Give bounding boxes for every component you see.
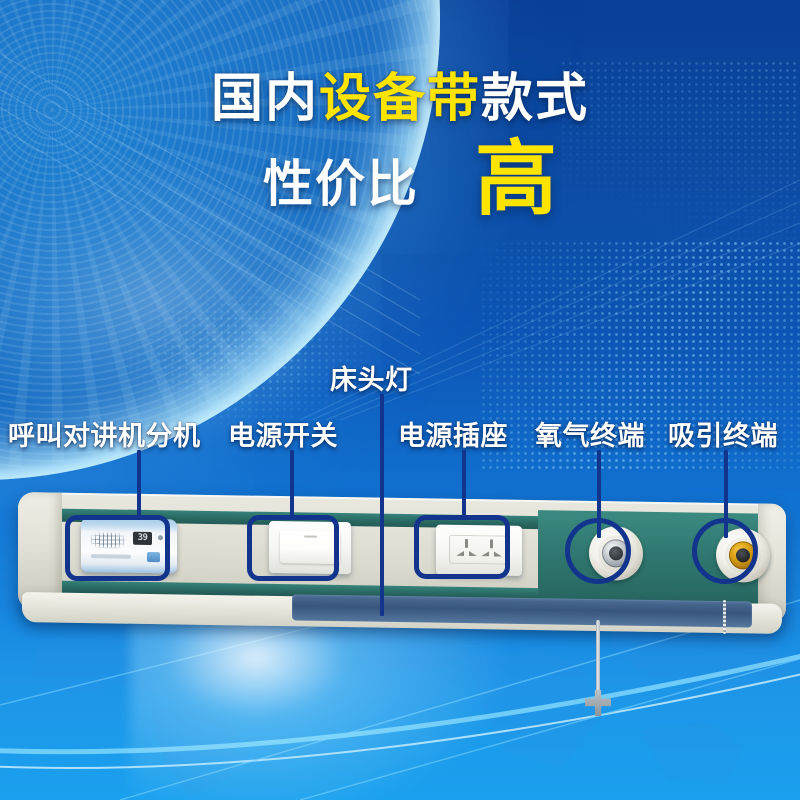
highlight-circle-oxygen (565, 518, 631, 584)
leader-line-bedside-lamp (380, 394, 384, 616)
highlight-box-power-socket (414, 515, 510, 579)
callout-label-oxygen: 氧气终端 (535, 414, 645, 453)
highlight-circle-suction (692, 518, 758, 584)
promo-banner: 国内设备带款式 性价比 高 呼叫对讲机分机 电源开关 床头灯 电源插座 氧气终端… (0, 0, 800, 800)
leader-line-intercom (137, 450, 141, 518)
callout-label-intercom: 呼叫对讲机分机 (8, 414, 201, 453)
callout-label-power-socket: 电源插座 (398, 414, 508, 453)
callout-label-power-switch: 电源开关 (228, 414, 338, 453)
highlight-box-power-switch (247, 515, 339, 581)
leader-line-power-socket (462, 450, 466, 518)
callout-label-suction: 吸引终端 (668, 414, 778, 453)
callout-layer: 呼叫对讲机分机 电源开关 床头灯 电源插座 氧气终端 吸引终端 (0, 0, 800, 800)
leader-line-power-switch (290, 450, 294, 518)
highlight-box-intercom (65, 515, 170, 581)
callout-label-bedside-lamp: 床头灯 (330, 358, 413, 397)
